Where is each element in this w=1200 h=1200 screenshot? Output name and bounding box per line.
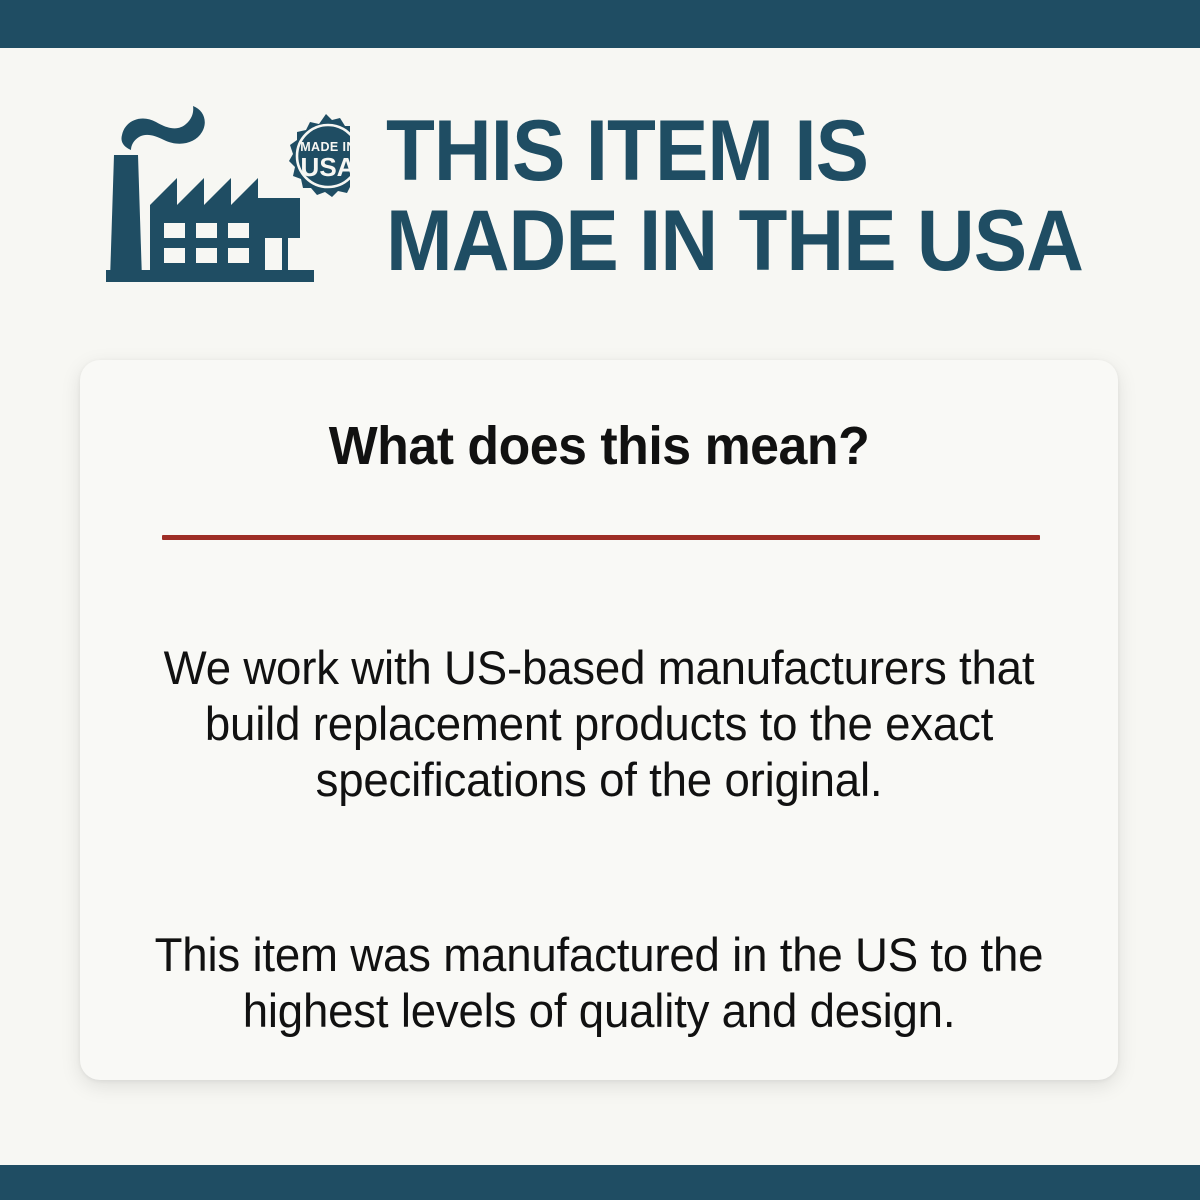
factory-icon: MADE IN USA bbox=[100, 100, 350, 285]
page-title-line-1: THIS ITEM IS bbox=[386, 106, 1121, 196]
explanation-card: What does this mean? We work with US-bas… bbox=[80, 360, 1118, 1080]
page-title-line-2: MADE IN THE USA bbox=[386, 196, 1121, 286]
svg-text:USA: USA bbox=[301, 152, 350, 182]
card-heading: What does this mean? bbox=[101, 416, 1097, 476]
top-accent-bar bbox=[0, 0, 1200, 48]
card-paragraph-1: We work with US-based manufacturers that… bbox=[154, 640, 1044, 808]
header: MADE IN USA THIS ITEM IS MADE IN THE USA bbox=[0, 48, 1200, 298]
card-divider bbox=[162, 535, 1040, 540]
page-root: MADE IN USA THIS ITEM IS MADE IN THE USA… bbox=[0, 0, 1200, 1200]
page-title: THIS ITEM IS MADE IN THE USA bbox=[386, 106, 1176, 286]
card-paragraph-2: This item was manufactured in the US to … bbox=[154, 927, 1044, 1039]
bottom-accent-bar bbox=[0, 1165, 1200, 1200]
